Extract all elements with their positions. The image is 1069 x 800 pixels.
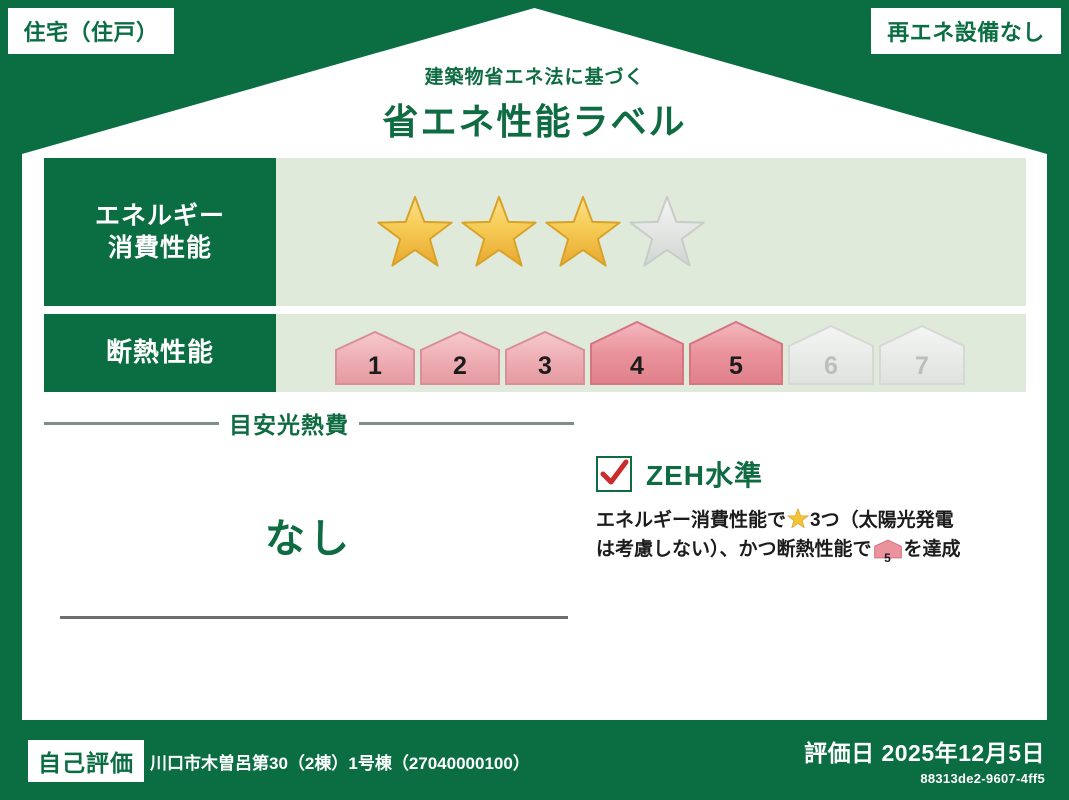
- evaluation-id: 88313de2-9607-4ff5: [804, 771, 1045, 786]
- zeh-section: ZEH水準 エネルギー消費性能で3つ（太陽光発電は考慮しない）、かつ断熱性能で5…: [574, 406, 1026, 569]
- insulation-grade-3: 3: [504, 330, 586, 386]
- zeh-description: エネルギー消費性能で3つ（太陽光発電は考慮しない）、かつ断熱性能で5を達成: [596, 506, 1026, 569]
- energy-performance-value: [276, 158, 1026, 306]
- utility-cost-heading-row: 目安光熱費: [44, 406, 574, 440]
- footer-left: 自己評価 川口市木曽呂第30（2棟）1号棟（27040000100）: [28, 740, 530, 782]
- star-icon-inline: [787, 508, 809, 529]
- zeh-heading-row: ZEH水準: [596, 454, 1026, 494]
- energy-label-root: 住宅（住戸） 再エネ設備なし 建築物省エネ法に基づく 省エネ性能ラベル エネルギ…: [0, 0, 1069, 800]
- energy-performance-label: エネルギー 消費性能: [44, 158, 276, 306]
- row-insulation-performance: 断熱性能: [44, 314, 1026, 392]
- insulation-grade-number: 4: [589, 352, 685, 381]
- badge-building-type: 住宅（住戸）: [8, 8, 174, 54]
- star-icon-filled-1: [376, 194, 454, 270]
- badge-renewable-energy: 再エネ設備なし: [871, 8, 1061, 54]
- utility-cost-heading: 目安光熱費: [229, 406, 349, 440]
- zeh-desc-part1: エネルギー消費性能で: [596, 510, 786, 531]
- row-energy-performance: エネルギー 消費性能: [44, 158, 1026, 306]
- insulation-grade-2: 2: [419, 330, 501, 386]
- insulation-performance-label: 断熱性能: [44, 314, 276, 392]
- insulation-grade-number: 7: [878, 352, 966, 381]
- footer: 自己評価 川口市木曽呂第30（2棟）1号棟（27040000100） 評価日 2…: [0, 720, 1069, 800]
- insulation-grade-icon-inline: 5: [874, 539, 902, 568]
- evaluation-date-value: 2025年12月5日: [881, 740, 1045, 766]
- utility-cost-section: 目安光熱費 なし: [44, 406, 574, 569]
- star-rating: [376, 194, 706, 270]
- title-block: 建築物省エネ法に基づく 省エネ性能ラベル: [0, 62, 1069, 145]
- insulation-performance-value: 1 2 3: [276, 314, 1026, 392]
- divider-line-right: [359, 422, 574, 425]
- insulation-grade-number: 2: [419, 352, 501, 381]
- insulation-grade-1: 1: [334, 330, 416, 386]
- page-title: 省エネ性能ラベル: [0, 93, 1069, 145]
- divider-line-left: [44, 422, 219, 425]
- star-icon-filled-2: [460, 194, 538, 270]
- insulation-grade-icon-number: 5: [874, 549, 902, 568]
- check-icon: [598, 458, 630, 490]
- evaluation-date-row: 評価日 2025年12月5日: [804, 734, 1045, 768]
- evaluation-type-badge: 自己評価: [28, 740, 144, 782]
- insulation-grade-7: 7: [878, 324, 966, 386]
- zeh-title: ZEH水準: [646, 454, 763, 494]
- evaluation-date-label: 評価日: [804, 740, 875, 766]
- footer-right: 評価日 2025年12月5日 88313de2-9607-4ff5: [804, 734, 1045, 786]
- insulation-grade-5: 5: [688, 320, 784, 386]
- zeh-desc-part2: 3つ（太陽光発電: [810, 510, 954, 531]
- utility-cost-value: なし: [44, 506, 574, 564]
- insulation-grade-number: 6: [787, 352, 875, 381]
- insulation-grade-number: 1: [334, 352, 416, 381]
- lower-panel: 目安光熱費 なし ZEH水準 エネルギー消費性能で3つ（太陽光発電は考慮しな: [44, 406, 1026, 569]
- bottom-rule: [60, 616, 568, 619]
- star-icon-empty-4: [628, 194, 706, 270]
- label-content: エネルギー 消費性能: [44, 158, 1026, 569]
- star-icon-filled-3: [544, 194, 622, 270]
- insulation-grade-6: 6: [787, 324, 875, 386]
- zeh-desc-part4: を達成: [904, 539, 961, 560]
- energy-label-line2: 消費性能: [108, 232, 212, 264]
- title-subtitle: 建築物省エネ法に基づく: [0, 62, 1069, 89]
- insulation-grade-number: 5: [688, 352, 784, 381]
- insulation-grade-scale: 1 2 3: [334, 320, 966, 386]
- insulation-grade-number: 3: [504, 352, 586, 381]
- property-address: 川口市木曽呂第30（2棟）1号棟（27040000100）: [150, 749, 530, 774]
- energy-label-line1: エネルギー: [95, 200, 225, 232]
- zeh-desc-part3: は考慮しない）、かつ断熱性能で: [596, 539, 872, 560]
- zeh-checkbox[interactable]: [596, 456, 632, 492]
- insulation-grade-4: 4: [589, 320, 685, 386]
